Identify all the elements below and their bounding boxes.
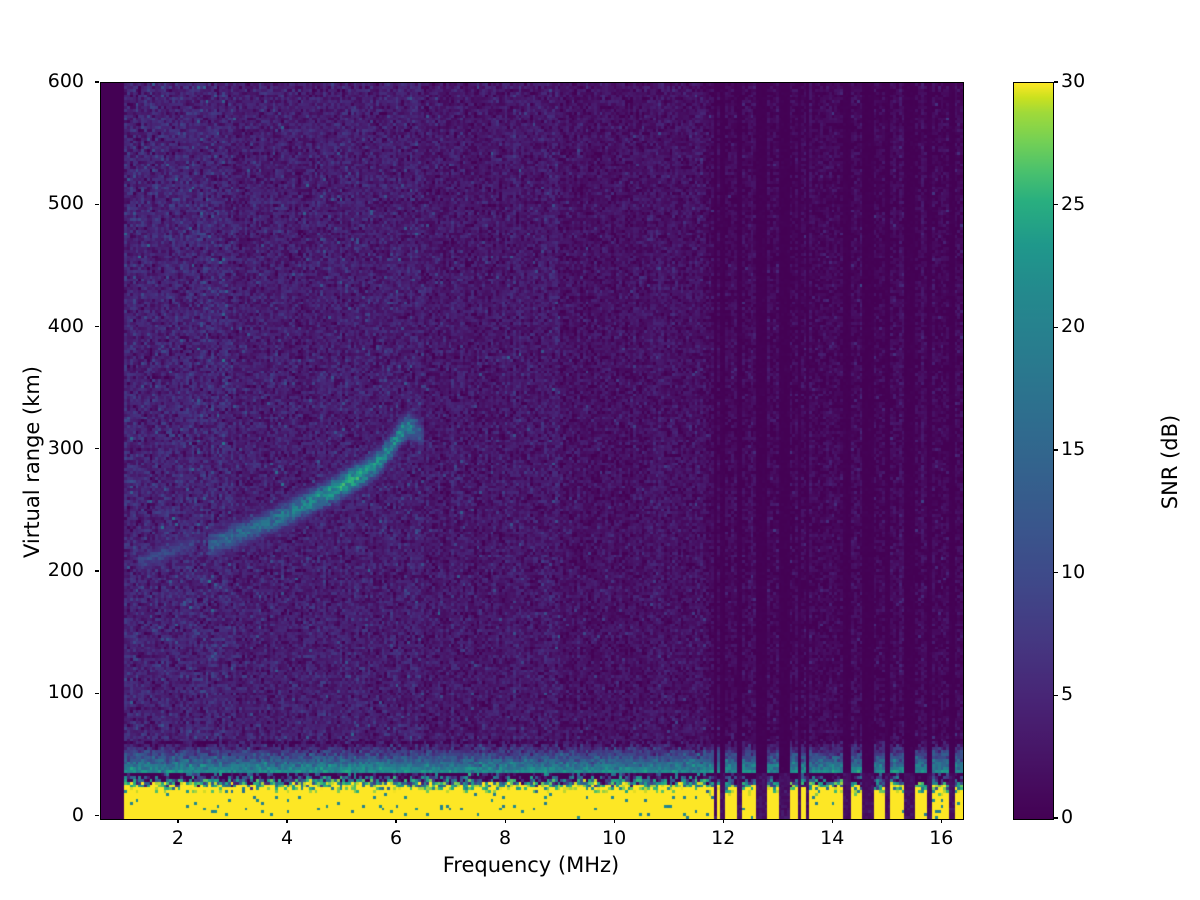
y-tick-mark [95,81,99,82]
x-tick-label: 4 [257,827,317,849]
colorbar-tick-label: 25 [1061,193,1085,215]
y-axis-label: Virtual range (km) [20,342,44,582]
colorbar-tick-label: 20 [1061,315,1085,337]
y-tick-mark [95,815,99,816]
ionogram-figure: IRF Kiruna Ionosonde KI167 2025-11-09 13… [0,0,1200,900]
colorbar-tick-mark [1054,572,1058,573]
x-tick-label: 16 [911,827,971,849]
x-tick-label: 12 [693,827,753,849]
colorbar-tick-mark [1054,204,1058,205]
ionogram-heatmap-canvas [101,83,963,819]
y-tick-mark [95,570,99,571]
colorbar-label: SNR (dB) [1158,342,1182,582]
x-tick-label: 6 [366,827,426,849]
x-tick-mark [832,819,833,823]
x-tick-mark [941,819,942,823]
colorbar-tick-mark [1054,327,1058,328]
x-axis-label: Frequency (MHz) [100,853,962,877]
x-tick-label: 2 [148,827,208,849]
colorbar [1013,82,1054,820]
x-tick-label: 14 [802,827,862,849]
x-tick-label: 10 [584,827,644,849]
colorbar-tick-mark [1054,817,1058,818]
x-tick-label: 8 [475,827,535,849]
x-tick-mark [505,819,506,823]
x-tick-mark [177,819,178,823]
colorbar-tick-label: 0 [1061,806,1073,828]
x-tick-mark [286,819,287,823]
y-tick-label: 100 [24,681,84,703]
y-tick-mark [95,693,99,694]
colorbar-tick-mark [1054,695,1058,696]
colorbar-tick-mark [1054,449,1058,450]
y-tick-mark [95,326,99,327]
x-tick-mark [614,819,615,823]
colorbar-tick-label: 30 [1061,70,1085,92]
colorbar-tick-label: 5 [1061,683,1073,705]
y-tick-label: 400 [24,315,84,337]
y-tick-mark [95,204,99,205]
x-tick-mark [723,819,724,823]
y-tick-label: 0 [24,804,84,826]
colorbar-tick-label: 15 [1061,438,1085,460]
y-tick-mark [95,448,99,449]
x-tick-mark [395,819,396,823]
y-tick-label: 600 [24,70,84,92]
colorbar-tick-label: 10 [1061,561,1085,583]
ionogram-plot-area [100,82,964,820]
y-tick-label: 500 [24,192,84,214]
colorbar-tick-mark [1054,81,1058,82]
